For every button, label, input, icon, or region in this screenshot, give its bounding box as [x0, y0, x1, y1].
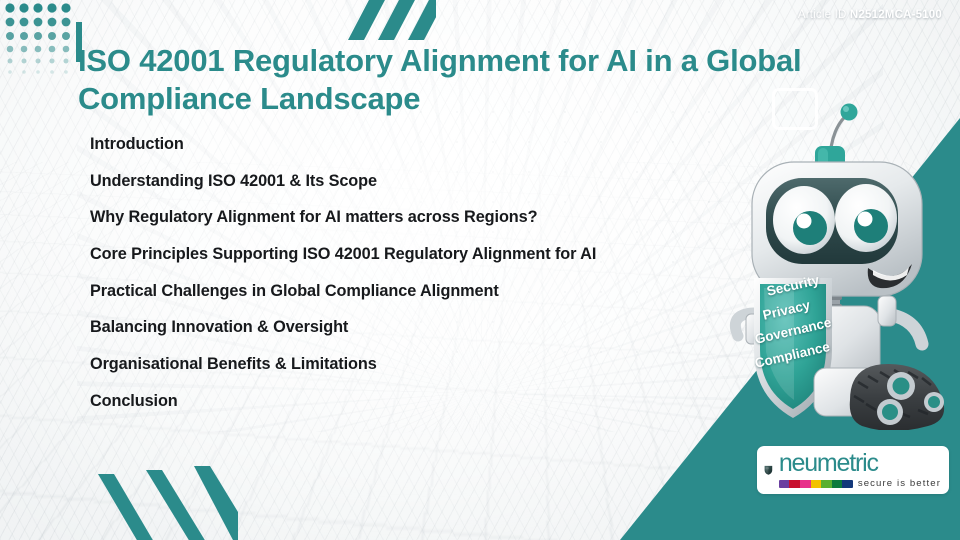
list-item: Balancing Innovation & Oversight — [90, 319, 750, 335]
list-item: Introduction — [90, 136, 750, 152]
robot-mascot-icon — [718, 100, 960, 430]
list-item: Understanding ISO 42001 & Its Scope — [90, 173, 750, 189]
list-item: Core Principles Supporting ISO 42001 Reg… — [90, 246, 750, 262]
diagonal-stripes-top — [318, 0, 436, 40]
list-item: Organisational Benefits & Limitations — [90, 356, 750, 372]
dot-grid-decoration — [4, 2, 76, 78]
agenda-list: Introduction Understanding ISO 42001 & I… — [90, 136, 750, 430]
logo-text-group: neumetric secure is better — [779, 451, 941, 489]
logo-bottom-row: secure is better — [779, 479, 941, 489]
presentation-slide: Article ID N2512MCA-5100 ISO 42001 Regul… — [0, 0, 960, 540]
neumetric-logo[interactable]: neumetric secure is better — [757, 446, 949, 494]
diagonal-stripes-bottom — [96, 452, 238, 540]
rainbow-bar-icon — [779, 480, 853, 488]
list-item: Why Regulatory Alignment for AI matters … — [90, 209, 750, 225]
logo-tagline: secure is better — [858, 479, 941, 489]
article-id-value: N2512MCA-5100 — [850, 9, 942, 21]
list-item: Conclusion — [90, 393, 750, 409]
shield-icon — [764, 453, 773, 487]
list-item: Practical Challenges in Global Complianc… — [90, 283, 750, 299]
article-id: Article ID N2512MCA-5100 — [798, 9, 942, 21]
logo-wordmark: neumetric — [779, 451, 941, 476]
article-id-label: Article ID — [798, 9, 847, 21]
